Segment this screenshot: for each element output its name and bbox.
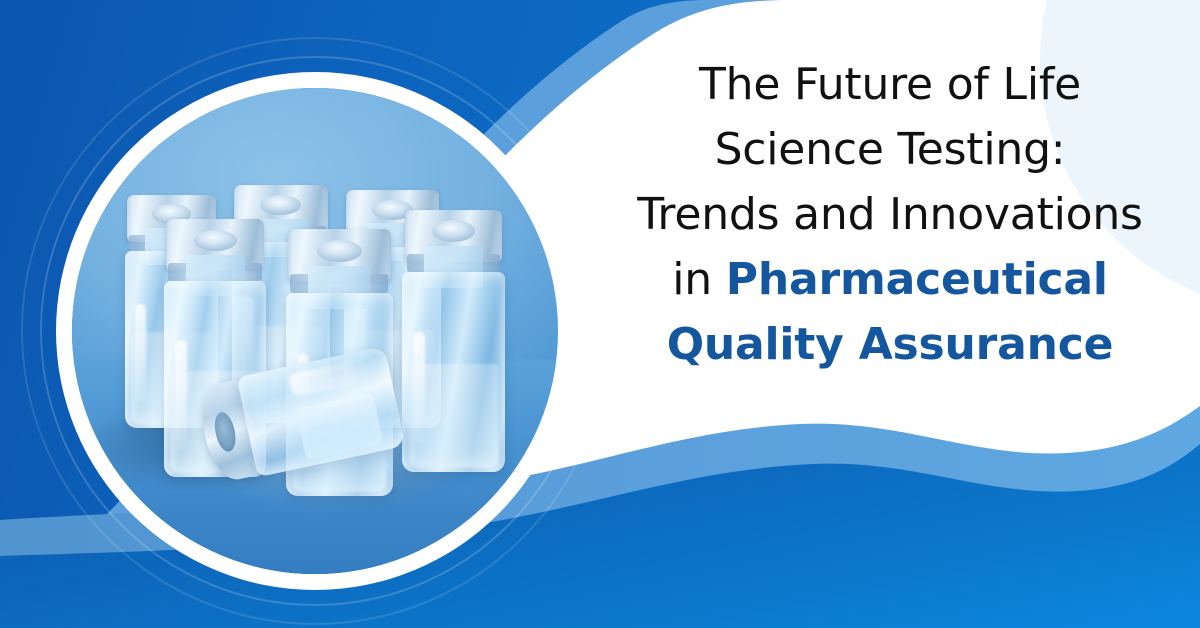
vials-photo-circle — [72, 88, 558, 574]
headline-line-4-prefix: in — [672, 254, 726, 305]
photo-highlight-sheen — [159, 380, 509, 526]
headline-line-4: in Pharmaceutical — [600, 247, 1180, 312]
headline-accent-quality-assurance: Quality Assurance — [600, 312, 1180, 377]
headline-line-1: The Future of Life — [600, 52, 1180, 117]
headline-accent-pharmaceutical: Pharmaceutical — [726, 254, 1108, 305]
headline-line-2: Science Testing: — [600, 117, 1180, 182]
banner-canvas: The Future of Life Science Testing: Tren… — [0, 0, 1200, 628]
headline-block: The Future of Life Science Testing: Tren… — [600, 52, 1180, 377]
vials-photograph — [72, 88, 558, 574]
headline-line-3: Trends and Innovations — [600, 182, 1180, 247]
